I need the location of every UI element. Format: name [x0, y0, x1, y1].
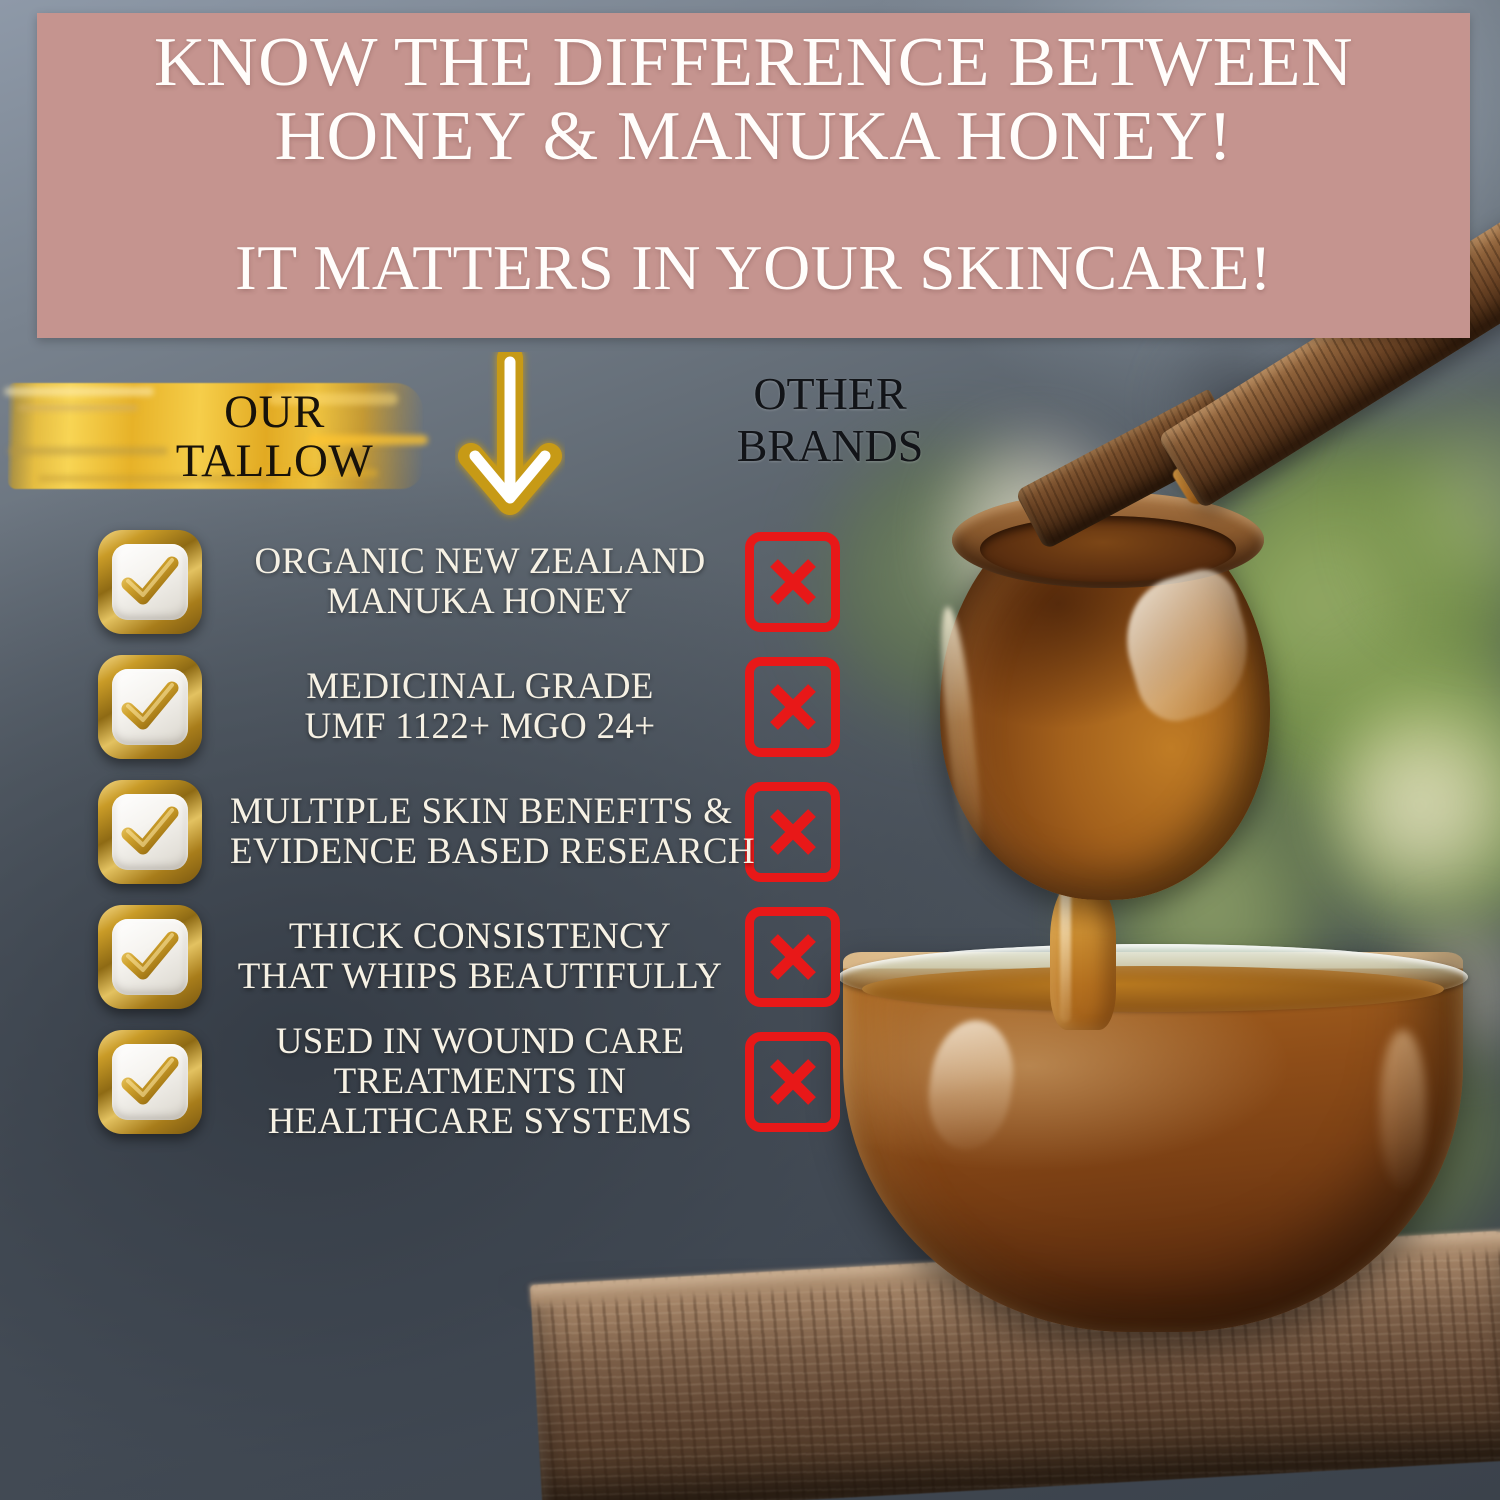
- feature-text-line: THAT WHIPS BEAUTIFULLY: [230, 957, 730, 997]
- feature-text-line: ORGANIC NEW ZEALAND: [230, 542, 730, 582]
- feature-text-line: TREATMENTS IN: [230, 1062, 730, 1102]
- feature-text-line: MEDICINAL GRADE: [230, 667, 730, 707]
- feature-text-line: MANUKA HONEY: [230, 582, 730, 622]
- checkmark-inner: [112, 669, 188, 745]
- checkmark-inner: [112, 794, 188, 870]
- feature-text: MEDICINAL GRADEUMF 1122+ MGO 24+: [230, 667, 730, 747]
- checkmark-icon: [98, 530, 202, 634]
- feature-text: MULTIPLE SKIN BENEFITS &EVIDENCE BASED R…: [230, 792, 730, 872]
- feature-text: ORGANIC NEW ZEALANDMANUKA HONEY: [230, 542, 730, 622]
- cross-icon: [745, 907, 840, 1007]
- feature-text-line: MULTIPLE SKIN BENEFITS &: [230, 792, 730, 832]
- checkmark-icon: [98, 655, 202, 759]
- checkmark-inner: [112, 544, 188, 620]
- feature-text: USED IN WOUND CARETREATMENTS INHEALTHCAR…: [230, 1022, 730, 1142]
- feature-text-line: UMF 1122+ MGO 24+: [230, 707, 730, 747]
- feature-text-line: EVIDENCE BASED RESEARCH: [230, 832, 730, 872]
- checkmark-inner: [112, 1044, 188, 1120]
- cross-icon: [745, 657, 840, 757]
- cross-icon: [745, 1032, 840, 1132]
- feature-text: THICK CONSISTENCYTHAT WHIPS BEAUTIFULLY: [230, 917, 730, 997]
- checkmark-icon: [98, 905, 202, 1009]
- checkmark-inner: [112, 919, 188, 995]
- comparison-rows: ORGANIC NEW ZEALANDMANUKA HONEYMEDICINAL…: [0, 0, 1500, 1500]
- cross-icon: [745, 782, 840, 882]
- checkmark-icon: [98, 1030, 202, 1134]
- feature-text-line: HEALTHCARE SYSTEMS: [230, 1102, 730, 1142]
- checkmark-icon: [98, 780, 202, 884]
- cross-icon: [745, 532, 840, 632]
- feature-text-line: THICK CONSISTENCY: [230, 917, 730, 957]
- feature-text-line: USED IN WOUND CARE: [230, 1022, 730, 1062]
